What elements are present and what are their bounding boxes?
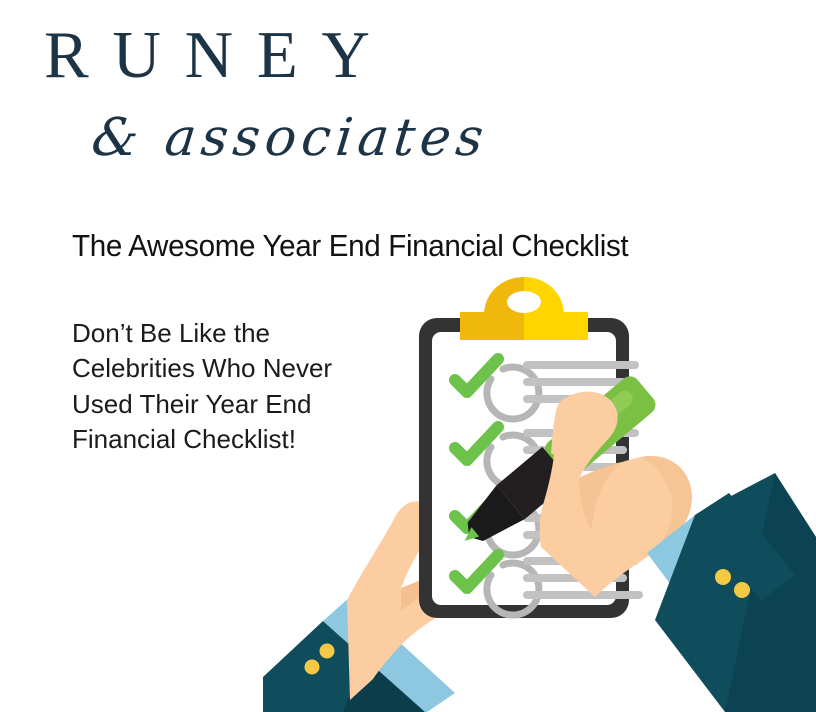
brand-script-tagline: & associates — [89, 112, 490, 164]
left-sleeve-button-2 — [320, 644, 335, 659]
checklist-line — [523, 591, 643, 599]
page-title: The Awesome Year End Financial Checklist — [72, 228, 628, 265]
clip-hole — [507, 291, 541, 313]
checklist-line — [523, 361, 639, 369]
checklist-line — [523, 378, 627, 386]
clipboard-illustration — [255, 275, 816, 712]
right-sleeve-button-1 — [715, 569, 731, 585]
left-sleeve-button-1 — [305, 660, 320, 675]
right-sleeve-button-2 — [734, 582, 750, 598]
clipboard-clip — [460, 277, 588, 340]
brand-wordmark: RUNEY — [44, 22, 544, 89]
poster-canvas: RUNEY & associates The Awesome Year End … — [0, 0, 816, 712]
